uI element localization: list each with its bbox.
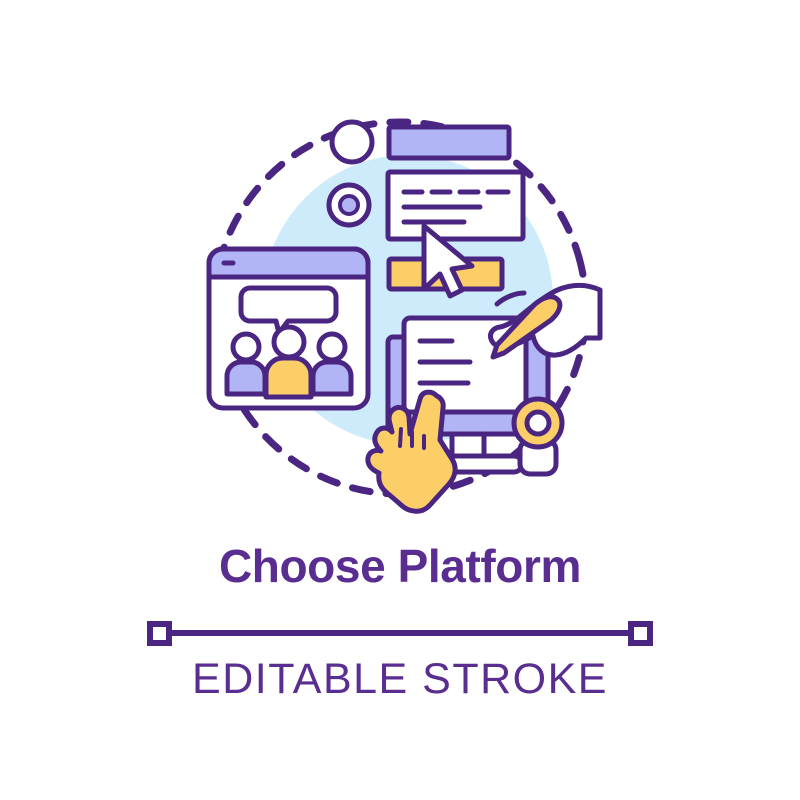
divider-endpoint-left — [150, 624, 169, 643]
divider-graphic — [0, 620, 800, 646]
magnifier-ring-icon — [514, 399, 562, 474]
radio-unselected-icon[interactable] — [332, 122, 372, 162]
audience-person-right — [313, 334, 351, 394]
concept-icon-canvas: Choose Platform EDITABLE STROKE — [0, 0, 800, 800]
header-bar — [389, 127, 509, 158]
audience-person-left — [227, 334, 265, 394]
page-title: Choose Platform — [0, 543, 800, 589]
choose-platform-illustration — [0, 0, 800, 530]
divider — [0, 620, 800, 646]
form-panel[interactable] — [388, 172, 523, 239]
divider-endpoint-right — [631, 624, 650, 643]
page-subtitle: EDITABLE STROKE — [0, 658, 800, 701]
radio-selected-dot-icon — [340, 196, 358, 214]
browser-window[interactable] — [209, 249, 368, 408]
illustration-area — [0, 0, 800, 530]
audience-person-center — [266, 327, 311, 397]
